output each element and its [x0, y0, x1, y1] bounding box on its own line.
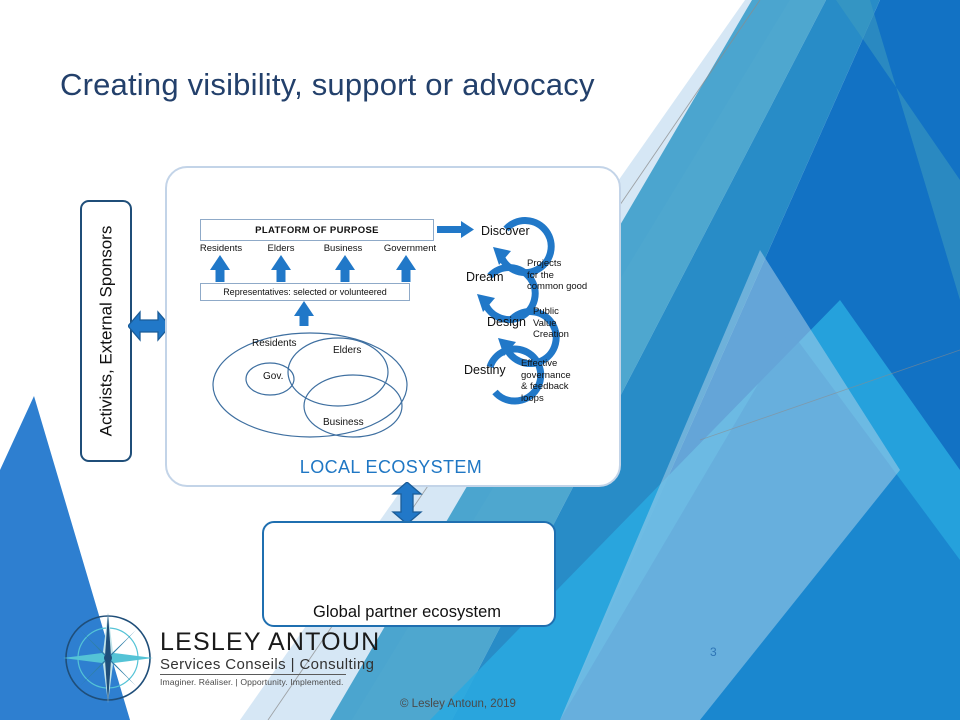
- page-title: Creating visibility, support or advocacy: [60, 66, 720, 104]
- page-number: 3: [710, 645, 717, 659]
- cycle-step-design: Design: [487, 315, 526, 329]
- venn-label-elders: Elders: [333, 345, 361, 356]
- cycle-step-discover: Discover: [481, 224, 530, 238]
- cycle-step-dream: Dream: [466, 270, 504, 284]
- double-headed-horizontal-arrow-icon: [128, 307, 170, 345]
- cycle-note-projects: Projects for the common good: [527, 258, 587, 293]
- activists-external-sponsors-box: Activists, External Sponsors: [80, 200, 132, 462]
- venn-label-business: Business: [323, 417, 364, 428]
- platform-of-purpose-label: PLATFORM OF PURPOSE: [255, 225, 379, 236]
- band-upper-teal: [836, 0, 960, 300]
- local-ecosystem-label: LOCAL ECOSYSTEM: [165, 457, 617, 478]
- representatives-box: Representatives: selected or volunteered: [200, 283, 410, 301]
- copyright-notice: © Lesley Antoun, 2019: [400, 698, 516, 710]
- activists-external-sponsors-label: Activists, External Sponsors: [96, 226, 116, 437]
- hairline-2: [700, 350, 960, 440]
- stakeholder-label-residents: Residents: [191, 243, 251, 254]
- venn-label-residents: Residents: [252, 338, 296, 349]
- double-headed-vertical-arrow-icon: [389, 482, 425, 524]
- cycle-note-public-value: Public Value Creation: [533, 306, 569, 341]
- stakeholder-label-elders: Elders: [257, 243, 305, 254]
- cycle-step-destiny: Destiny: [464, 363, 506, 377]
- logo-name: LESLEY ANTOUN: [160, 628, 380, 657]
- venn-label-gov: Gov.: [263, 371, 283, 382]
- platform-of-purpose-box: PLATFORM OF PURPOSE: [200, 219, 434, 241]
- representatives-label: Representatives: selected or volunteered: [223, 287, 387, 297]
- cycle-note-governance: Effective governance & feedback loops: [521, 358, 571, 404]
- logo-subtitle: Services Conseils | Consulting: [160, 656, 374, 673]
- slide-canvas: Creating visibility, support or advocacy…: [0, 0, 960, 720]
- stakeholder-label-business: Business: [316, 243, 370, 254]
- logo-tagline: Imaginer. Réaliser. | Opportunity. Imple…: [160, 677, 346, 687]
- logo-tagline-wrap: Imaginer. Réaliser. | Opportunity. Imple…: [160, 674, 346, 687]
- logo-divider: [160, 674, 346, 675]
- stakeholder-label-government: Government: [377, 243, 443, 254]
